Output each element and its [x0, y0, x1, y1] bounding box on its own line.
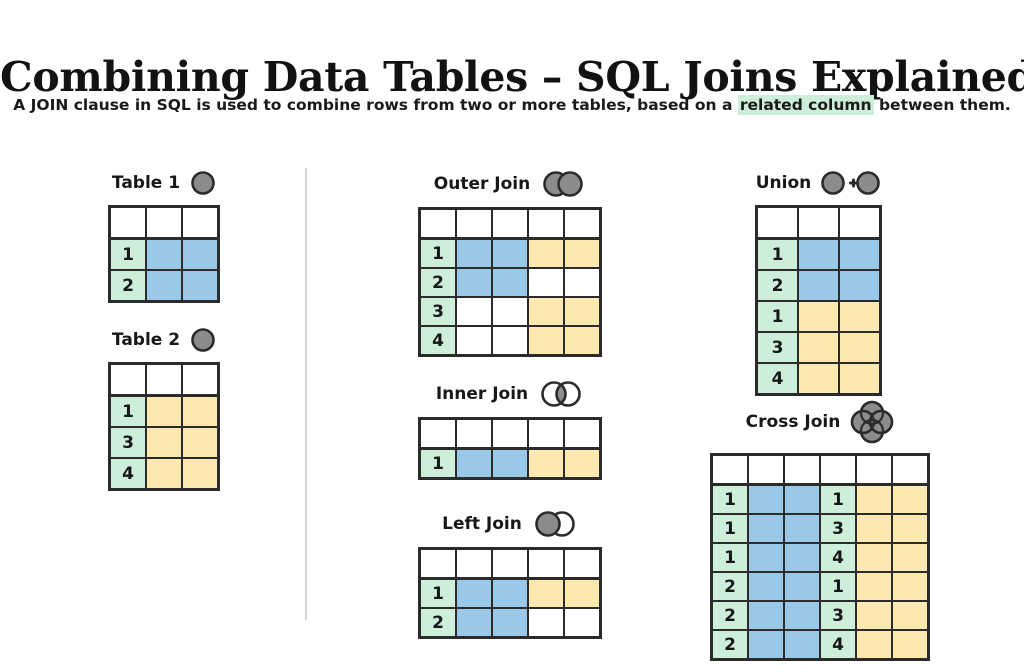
- table-row: 1: [421, 580, 599, 609]
- data-cell-yellow: [529, 240, 565, 269]
- data-cell-blue: [147, 240, 183, 271]
- table-header-cell: [111, 365, 147, 397]
- table-row: 2: [421, 609, 599, 636]
- table-header-cell: [893, 456, 927, 486]
- key-cell: 2: [111, 271, 147, 300]
- data-cell-blue: [493, 450, 529, 477]
- table-row: 2: [758, 271, 879, 302]
- table-header-cell: [799, 208, 840, 240]
- table-header-cell: [111, 208, 147, 240]
- venn-intersection-filled-icon: [538, 380, 584, 408]
- block-label: Table 1: [112, 173, 180, 193]
- data-cell-blue: [457, 450, 493, 477]
- data-cell-yellow: [183, 428, 217, 459]
- data-cell-yellow: [857, 486, 893, 515]
- data-cell-blue: [457, 240, 493, 269]
- data-cell-blue: [785, 602, 821, 631]
- empty-cell: [457, 327, 493, 354]
- data-cell-blue: [457, 269, 493, 298]
- join-block-table1: Table 112: [108, 170, 220, 303]
- key-cell: 1: [421, 450, 457, 477]
- table-header-cell: [147, 208, 183, 240]
- table-header-cell: [821, 456, 857, 486]
- table-row: 4: [421, 327, 599, 354]
- data-cell-blue: [749, 631, 785, 658]
- data-cell-blue: [840, 271, 879, 302]
- table-header-cell: [183, 365, 217, 397]
- data-cell-yellow: [840, 333, 879, 364]
- block-label: Union: [756, 173, 812, 193]
- key-cell: 3: [421, 298, 457, 327]
- table-row: 1: [421, 450, 599, 477]
- table-header-row: [758, 208, 879, 240]
- subtitle-text-before: A JOIN clause in SQL is used to combine …: [13, 96, 738, 114]
- block-label: Outer Join: [434, 174, 530, 194]
- table-header-cell: [565, 550, 599, 580]
- key-cell-secondary: 1: [821, 486, 857, 515]
- data-cell-yellow: [147, 428, 183, 459]
- block-label: Cross Join: [746, 412, 841, 432]
- join-block-left: Left Join12: [418, 510, 602, 639]
- key-cell: 1: [111, 240, 147, 271]
- join-block-table2: Table 2134: [108, 327, 220, 491]
- data-cell-yellow: [857, 544, 893, 573]
- data-cell-blue: [799, 240, 840, 271]
- table-header-row: [421, 550, 599, 580]
- data-cell-blue: [147, 271, 183, 300]
- four-circles-clover-icon: [850, 400, 894, 444]
- data-cell-yellow: [893, 631, 927, 658]
- table-header-cell: [713, 456, 749, 486]
- table-header-row: [421, 420, 599, 450]
- data-cell-yellow: [840, 302, 879, 333]
- table-header-row: [713, 456, 927, 486]
- table-header-row: [111, 208, 217, 240]
- data-cell-yellow: [893, 515, 927, 544]
- table-row: 24: [713, 631, 927, 658]
- data-cell-yellow: [893, 486, 927, 515]
- table-row: 1: [758, 302, 879, 333]
- data-cell-yellow: [183, 397, 217, 428]
- join-block-inner: Inner Join1: [418, 380, 602, 480]
- table-row: 1: [421, 240, 599, 269]
- data-cell-blue: [493, 609, 529, 636]
- table-row: 3: [758, 333, 879, 364]
- data-cell-blue: [840, 240, 879, 271]
- key-cell: 2: [713, 631, 749, 658]
- table-header-cell: [457, 550, 493, 580]
- data-cell-yellow: [893, 544, 927, 573]
- table-header-cell: [840, 208, 879, 240]
- key-cell: 2: [758, 271, 799, 302]
- table-row: 1: [111, 240, 217, 271]
- data-cell-yellow: [565, 298, 599, 327]
- table-header-cell: [758, 208, 799, 240]
- table-row: 3: [111, 428, 217, 459]
- table-row: 1: [758, 240, 879, 271]
- table-header-cell: [493, 420, 529, 450]
- key-cell: 1: [713, 515, 749, 544]
- key-cell-secondary: 3: [821, 602, 857, 631]
- block-header: Table 2: [108, 327, 220, 353]
- venn-both-filled-icon: [540, 170, 586, 198]
- join-block-outer: Outer Join1234: [418, 170, 602, 357]
- key-cell: 2: [713, 602, 749, 631]
- data-table: 12: [108, 205, 220, 303]
- data-cell-yellow: [893, 602, 927, 631]
- empty-cell: [529, 269, 565, 298]
- key-cell: 2: [421, 269, 457, 298]
- table-row: 21: [713, 573, 927, 602]
- data-cell-yellow: [529, 580, 565, 609]
- data-cell-yellow: [857, 602, 893, 631]
- two-circles-plus-icon: [821, 170, 881, 196]
- data-cell-blue: [493, 240, 529, 269]
- table-header-cell: [493, 550, 529, 580]
- data-cell-yellow: [799, 364, 840, 393]
- data-table: 12134: [755, 205, 882, 396]
- venn-left-filled-icon: [532, 510, 578, 538]
- empty-cell: [457, 298, 493, 327]
- data-cell-yellow: [893, 573, 927, 602]
- table-header-cell: [421, 550, 457, 580]
- table-header-cell: [183, 208, 217, 240]
- data-cell-yellow: [529, 450, 565, 477]
- data-cell-blue: [749, 544, 785, 573]
- key-cell: 3: [758, 333, 799, 364]
- data-cell-blue: [785, 573, 821, 602]
- data-cell-blue: [457, 609, 493, 636]
- key-cell: 1: [713, 486, 749, 515]
- table-header-cell: [565, 420, 599, 450]
- table-header-cell: [457, 210, 493, 240]
- data-cell-blue: [493, 580, 529, 609]
- empty-cell: [493, 298, 529, 327]
- data-cell-yellow: [183, 459, 217, 488]
- table-row: 14: [713, 544, 927, 573]
- data-cell-yellow: [565, 240, 599, 269]
- subtitle-text-after: between them.: [874, 96, 1011, 114]
- key-cell-secondary: 1: [821, 573, 857, 602]
- section-divider: [305, 168, 307, 620]
- data-table: 134: [108, 362, 220, 491]
- key-cell: 2: [421, 609, 457, 636]
- block-label: Table 2: [112, 330, 180, 350]
- table-header-cell: [147, 365, 183, 397]
- key-cell: 4: [758, 364, 799, 393]
- key-cell: 1: [713, 544, 749, 573]
- table-header-row: [111, 365, 217, 397]
- table-header-row: [421, 210, 599, 240]
- empty-cell: [565, 609, 599, 636]
- data-cell-yellow: [840, 364, 879, 393]
- data-cell-yellow: [799, 302, 840, 333]
- data-cell-blue: [785, 631, 821, 658]
- block-header: Table 1: [108, 170, 220, 196]
- key-cell: 1: [758, 302, 799, 333]
- data-cell-blue: [493, 269, 529, 298]
- key-cell: 3: [111, 428, 147, 459]
- data-table: 111314212324: [710, 453, 930, 661]
- table-header-cell: [857, 456, 893, 486]
- data-cell-blue: [799, 271, 840, 302]
- block-header: Outer Join: [418, 170, 602, 198]
- block-header: Left Join: [418, 510, 602, 538]
- data-cell-yellow: [565, 450, 599, 477]
- key-cell-secondary: 3: [821, 515, 857, 544]
- data-cell-blue: [457, 580, 493, 609]
- data-cell-yellow: [799, 333, 840, 364]
- data-cell-blue: [785, 544, 821, 573]
- block-header: Cross Join: [710, 400, 930, 444]
- join-block-union: Union12134: [755, 170, 882, 396]
- block-label: Left Join: [442, 514, 522, 534]
- data-cell-blue: [749, 486, 785, 515]
- data-cell-blue: [749, 602, 785, 631]
- data-cell-yellow: [565, 327, 599, 354]
- empty-cell: [529, 609, 565, 636]
- key-cell: 4: [421, 327, 457, 354]
- empty-cell: [493, 327, 529, 354]
- table-row: 3: [421, 298, 599, 327]
- key-cell: 1: [421, 240, 457, 269]
- table-header-cell: [457, 420, 493, 450]
- data-cell-yellow: [147, 459, 183, 488]
- key-cell: 2: [713, 573, 749, 602]
- key-cell-secondary: 4: [821, 631, 857, 658]
- join-block-cross: Cross Join111314212324: [710, 400, 930, 661]
- single-circle-icon: [190, 327, 216, 353]
- data-cell-yellow: [857, 573, 893, 602]
- table-row: 23: [713, 602, 927, 631]
- data-cell-blue: [749, 515, 785, 544]
- table-row: 13: [713, 515, 927, 544]
- block-label: Inner Join: [436, 384, 528, 404]
- data-cell-blue: [785, 515, 821, 544]
- table-row: 2: [111, 271, 217, 300]
- table-row: 2: [421, 269, 599, 298]
- data-cell-yellow: [857, 515, 893, 544]
- subtitle-highlight: related column: [738, 95, 874, 115]
- data-cell-blue: [749, 573, 785, 602]
- data-table: 12: [418, 547, 602, 639]
- single-circle-icon: [190, 170, 216, 196]
- page-subtitle: A JOIN clause in SQL is used to combine …: [0, 96, 1024, 114]
- block-header: Inner Join: [418, 380, 602, 408]
- data-cell-yellow: [857, 631, 893, 658]
- data-cell-yellow: [147, 397, 183, 428]
- table-header-cell: [565, 210, 599, 240]
- table-header-cell: [785, 456, 821, 486]
- data-cell-blue: [183, 271, 217, 300]
- table-row: 11: [713, 486, 927, 515]
- key-cell: 1: [758, 240, 799, 271]
- empty-cell: [565, 269, 599, 298]
- data-cell-yellow: [565, 580, 599, 609]
- data-cell-yellow: [529, 298, 565, 327]
- table-header-cell: [529, 210, 565, 240]
- table-header-cell: [749, 456, 785, 486]
- key-cell: 1: [421, 580, 457, 609]
- table-row: 1: [111, 397, 217, 428]
- key-cell-secondary: 4: [821, 544, 857, 573]
- data-cell-yellow: [529, 327, 565, 354]
- block-header: Union: [755, 170, 882, 196]
- key-cell: 1: [111, 397, 147, 428]
- data-cell-blue: [183, 240, 217, 271]
- table-row: 4: [758, 364, 879, 393]
- data-table: 1234: [418, 207, 602, 357]
- table-header-cell: [493, 210, 529, 240]
- table-row: 4: [111, 459, 217, 488]
- table-header-cell: [421, 210, 457, 240]
- table-header-cell: [421, 420, 457, 450]
- data-table: 1: [418, 417, 602, 480]
- table-header-cell: [529, 420, 565, 450]
- key-cell: 4: [111, 459, 147, 488]
- data-cell-blue: [785, 486, 821, 515]
- table-header-cell: [529, 550, 565, 580]
